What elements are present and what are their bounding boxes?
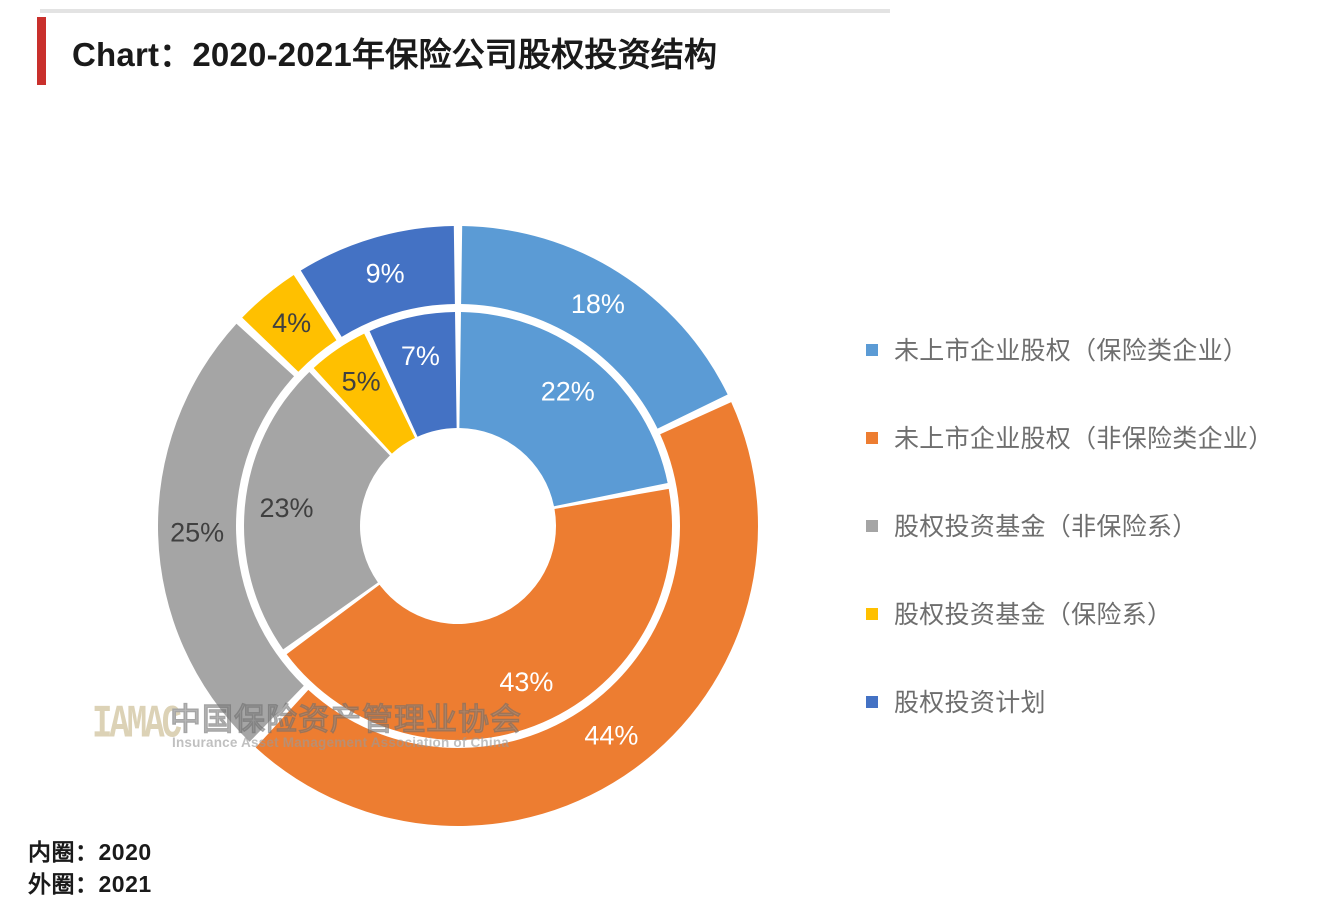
legend-item-label: 股权投资基金（非保险系） [894, 507, 1198, 543]
ring-key-footnote: 内圈：2020 外圈：2021 [28, 836, 152, 900]
legend-item-label: 未上市企业股权（非保险类企业） [894, 419, 1274, 455]
chart-legend: 未上市企业股权（保险类企业）未上市企业股权（非保险类企业）股权投资基金（非保险系… [866, 305, 1296, 745]
donut-slice-label: 7% [401, 341, 440, 371]
legend-item[interactable]: 股权投资基金（非保险系） [866, 481, 1296, 569]
legend-swatch-icon [866, 432, 878, 444]
legend-swatch-icon [866, 520, 878, 532]
legend-item[interactable]: 未上市企业股权（非保险类企业） [866, 393, 1296, 481]
legend-item[interactable]: 未上市企业股权（保险类企业） [866, 305, 1296, 393]
inner-ring-2020 [244, 312, 672, 740]
donut-slice-label: 22% [541, 376, 595, 406]
legend-item-label: 股权投资计划 [894, 683, 1046, 719]
legend-item[interactable]: 股权投资计划 [866, 657, 1296, 745]
footnote-outer-ring: 外圈：2021 [28, 868, 152, 900]
donut-chart-svg: 18%44%25%4%9% 22%43%23%5%7% [0, 0, 860, 914]
legend-swatch-icon [866, 344, 878, 356]
donut-slice-label: 5% [342, 367, 381, 397]
donut-slice-label: 9% [366, 258, 405, 288]
donut-slice-label: 25% [170, 517, 224, 547]
legend-item[interactable]: 股权投资基金（保险系） [866, 569, 1296, 657]
donut-slice-label: 18% [571, 289, 625, 319]
footnote-inner-ring: 内圈：2020 [28, 836, 152, 868]
donut-slice-label: 43% [499, 667, 553, 697]
legend-item-label: 股权投资基金（保险系） [894, 595, 1172, 631]
donut-slice-label: 44% [584, 720, 638, 750]
legend-swatch-icon [866, 608, 878, 620]
donut-slice-label: 4% [272, 308, 311, 338]
legend-swatch-icon [866, 696, 878, 708]
donut-slice-label: 23% [260, 493, 314, 523]
legend-item-label: 未上市企业股权（保险类企业） [894, 331, 1248, 367]
donut-chart: 18%44%25%4%9% 22%43%23%5%7% IAMAC 中国保险资产… [0, 0, 860, 914]
